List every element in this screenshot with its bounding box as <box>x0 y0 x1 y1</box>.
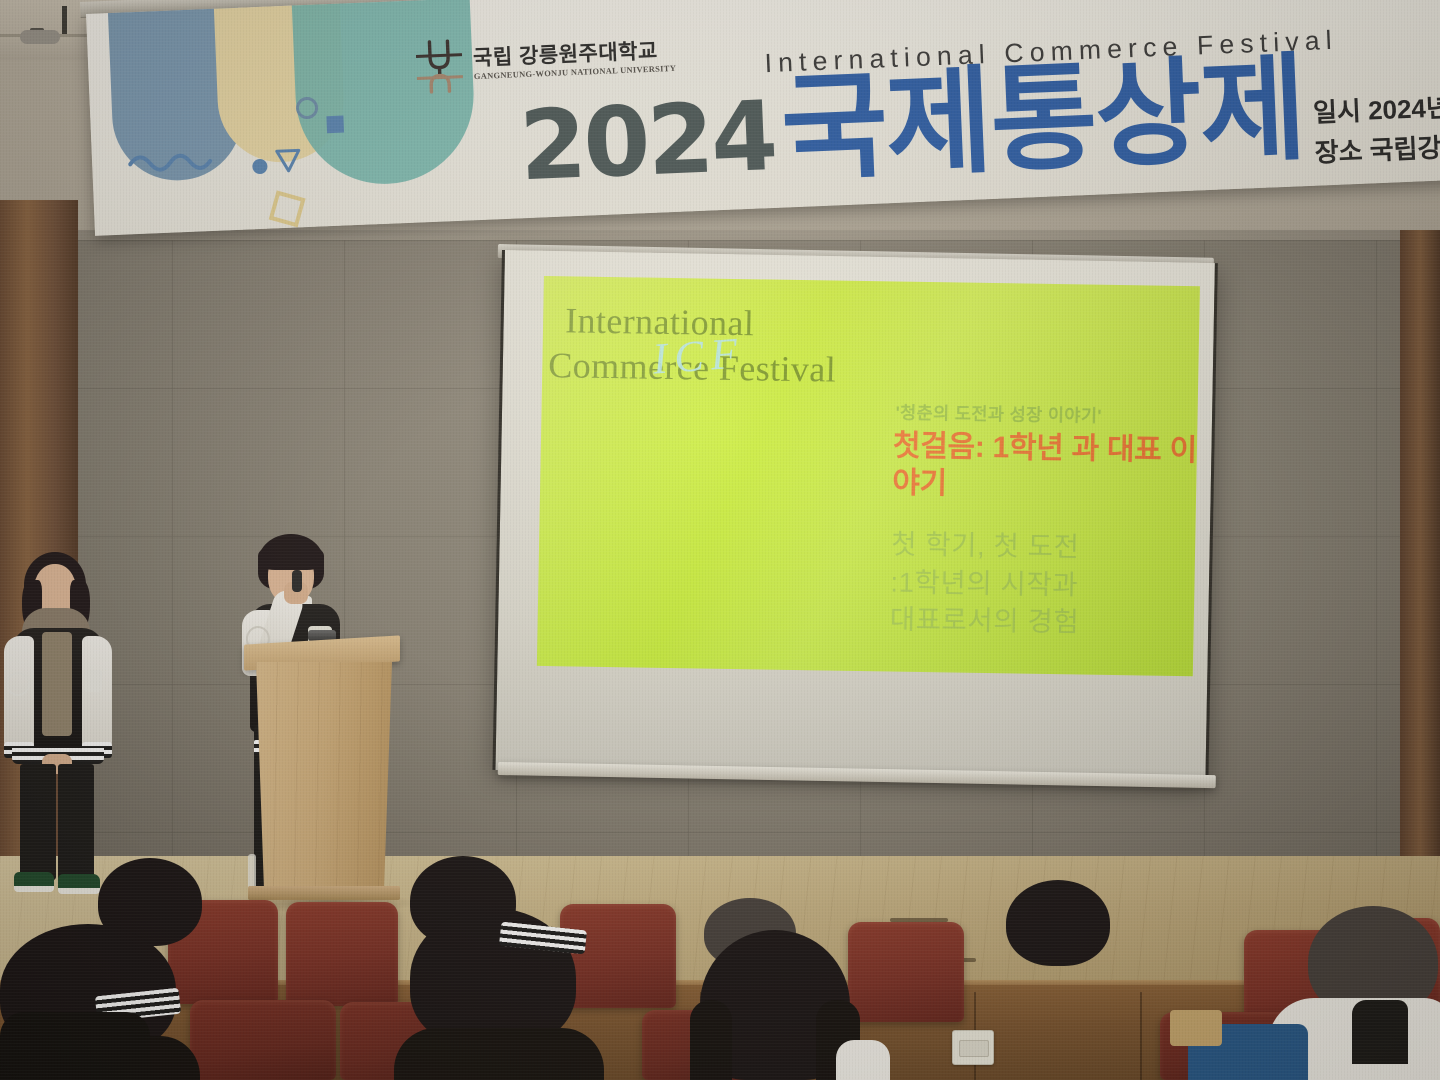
panel-seam <box>1140 992 1142 1080</box>
audience-member-long-hair <box>690 930 870 1080</box>
presentation-slide: International Commerce Festival ICF '청춘의… <box>537 276 1200 676</box>
audience-member <box>0 1012 150 1080</box>
icf-monogram: ICF <box>651 327 746 384</box>
photo-scene: International Commerce Festival ICF '청춘의… <box>0 0 1440 1080</box>
banner-info-place: 장소 국립강 <box>1314 128 1440 173</box>
banner-title-ko: 국제통상제 <box>779 50 1307 187</box>
slide-subtitle-line-3: 대표로서의 경험 <box>889 601 1200 644</box>
slide-subtitle: 첫 학기, 첫 도전 :1학년의 시작과 대표로서의 경험 <box>889 525 1200 643</box>
banner-info-date: 일시 2024년 <box>1312 88 1440 133</box>
banner-circle-teal <box>292 0 477 187</box>
slide-brand-line-1: International <box>565 298 926 349</box>
audience-member <box>1000 880 1116 972</box>
spotlight-body <box>20 30 60 44</box>
university-emblem-icon <box>413 37 465 95</box>
wall-outlet <box>952 1030 994 1065</box>
squiggle-decoration <box>128 147 215 177</box>
wood-pilaster-right <box>1400 230 1440 890</box>
slide-headline: 첫걸음: 1학년 과 대표 이야기 <box>892 428 1200 507</box>
slide-subtitle-line-2: :1학년의 시작과 <box>890 563 1200 606</box>
audience-member <box>1188 1002 1308 1080</box>
seat-empty[interactable] <box>190 1000 336 1080</box>
slide-brand-text: International Commerce Festival <box>564 298 926 394</box>
student-standing <box>0 552 120 892</box>
square-decoration-blue <box>326 116 344 134</box>
slide-eyebrow-text: '청춘의 도전과 성장 이야기' <box>895 400 1102 428</box>
triangle-decoration <box>274 147 303 174</box>
podium-wood-grain <box>256 662 392 894</box>
banner-info-block: 일시 2024년 장소 국립강 <box>1312 88 1440 173</box>
podium-base <box>248 886 400 900</box>
banner-year: 2024 <box>518 88 777 194</box>
slide-subtitle-line-1: 첫 학기, 첫 도전 <box>891 525 1200 568</box>
seat-empty[interactable] <box>286 902 398 1006</box>
square-decoration-cream <box>269 190 306 227</box>
spotlight-arm <box>62 6 67 34</box>
dot-decoration-blue <box>252 159 268 175</box>
